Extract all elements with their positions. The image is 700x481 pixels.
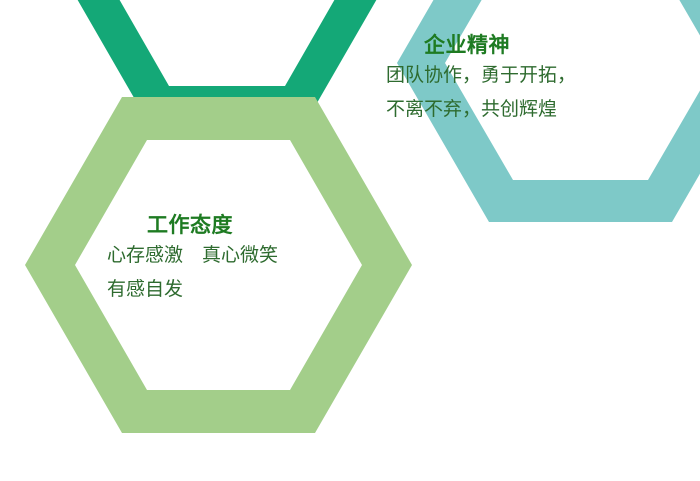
enterprise-spirit-line-2: 不离不弃，共创辉煌 (386, 93, 576, 127)
work-attitude-line-1: 心存感激 真心微笑 (107, 239, 278, 273)
work-attitude-line-2: 有感自发 (107, 273, 278, 307)
infographic-canvas: 企业精神 团队协作，勇于开拓， 不离不弃，共创辉煌 工作态度 心存感激 真心微笑… (0, 0, 700, 481)
work-attitude-text-block: 工作态度 心存感激 真心微笑 有感自发 (107, 211, 278, 307)
enterprise-spirit-text-block: 企业精神 团队协作，勇于开拓， 不离不弃，共创辉煌 (386, 31, 576, 127)
enterprise-spirit-title: 企业精神 (424, 31, 576, 59)
enterprise-spirit-line-1: 团队协作，勇于开拓， (386, 59, 576, 93)
work-attitude-title: 工作态度 (147, 211, 278, 239)
hexagon-graphics-layer (0, 0, 700, 481)
